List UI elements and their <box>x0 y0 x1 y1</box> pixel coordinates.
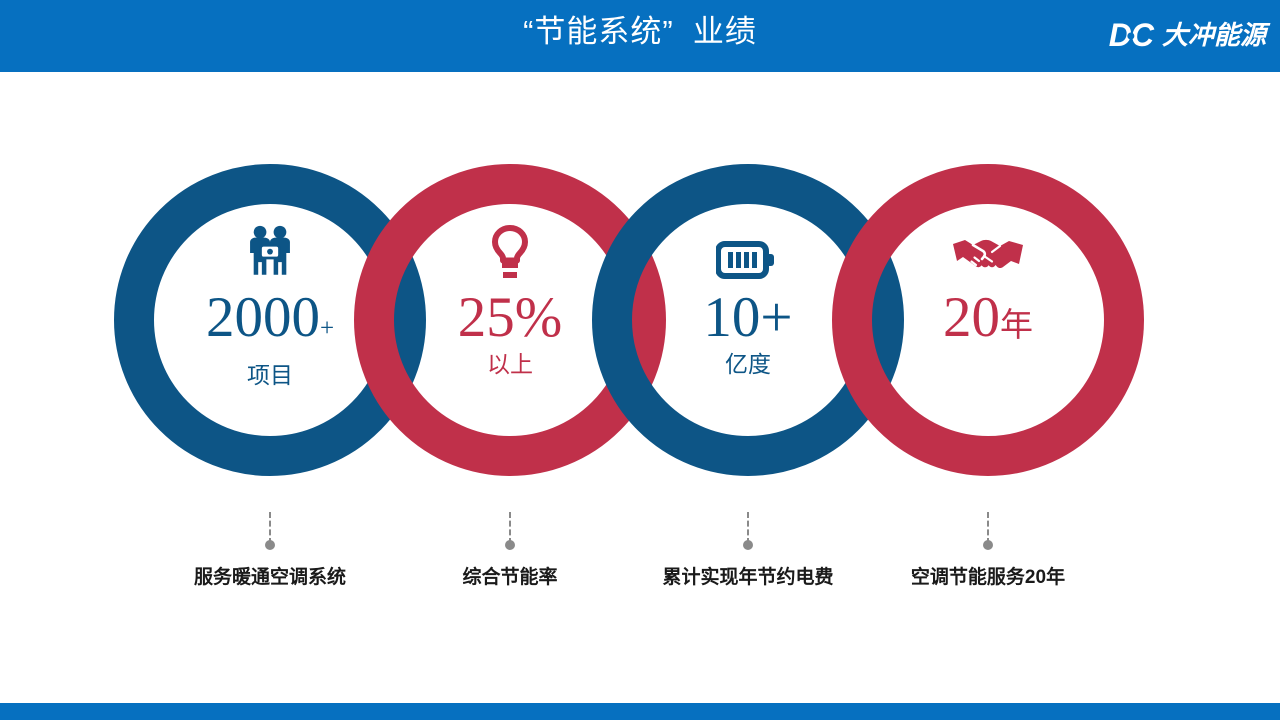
connector-dot-1 <box>265 540 275 550</box>
logo-company-name: 大冲能源 <box>1162 22 1266 48</box>
header-bar: “节能系统” 业绩 DC 大冲能源 <box>0 0 1280 72</box>
connector-dot-2 <box>505 540 515 550</box>
caption-3: 累计实现年节约电费 <box>662 562 833 589</box>
brand-logo: DC 大冲能源 <box>1109 12 1266 58</box>
connector-dot-3 <box>743 540 753 550</box>
connector-dot-4 <box>983 540 993 550</box>
footer-bar <box>0 703 1280 720</box>
rings-infographic: 2000+ 项目 25% 以上 <box>0 72 1280 703</box>
rings-svg <box>0 72 1280 703</box>
caption-2: 综合节能率 <box>462 562 557 589</box>
logo-dc-mark: DC <box>1109 19 1153 51</box>
caption-4: 空调节能服务20年 <box>911 562 1065 589</box>
logo-dot-icon <box>1127 32 1134 39</box>
page-title: “节能系统” 业绩 <box>0 0 1280 72</box>
caption-1: 服务暖通空调系统 <box>194 562 346 589</box>
